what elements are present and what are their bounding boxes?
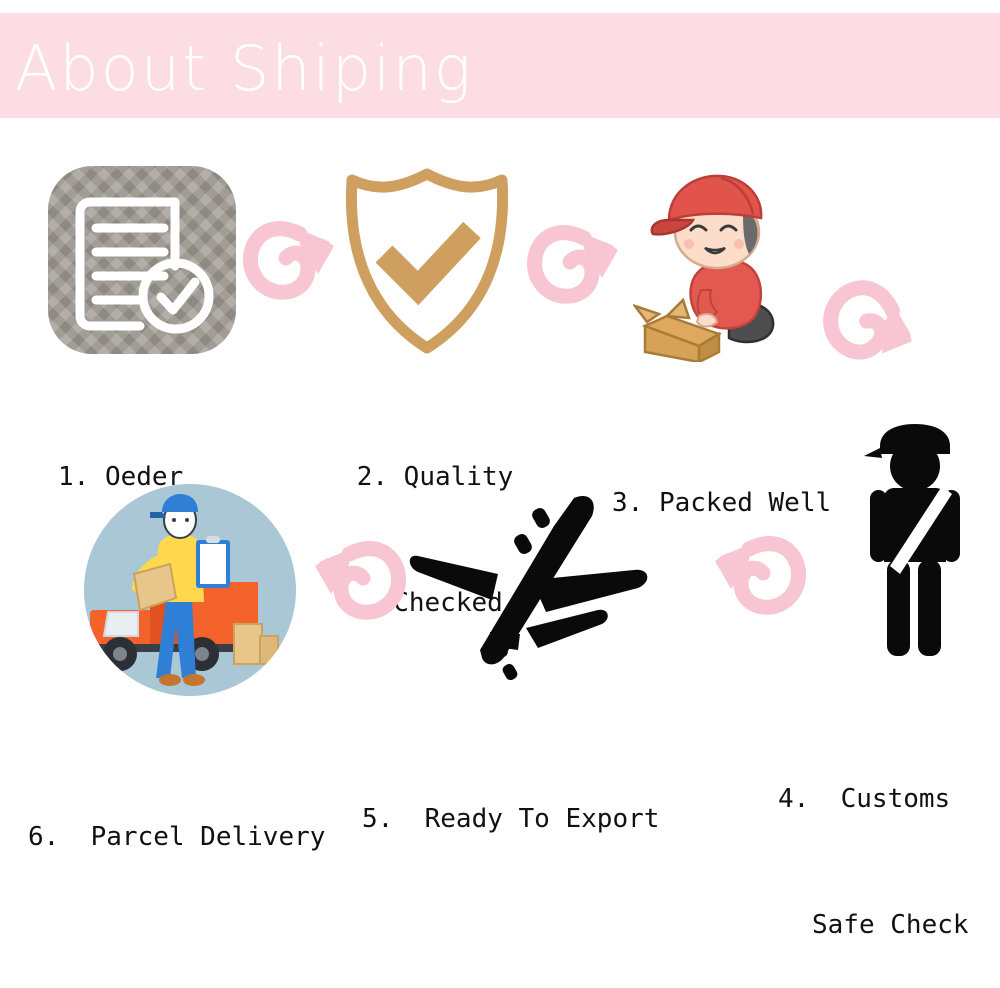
step-4-label: 4. Customs Safe Check [778,694,1000,988]
arrow-step4-to-step5 [703,527,811,627]
step-5-line1: 5. Ready To Export [362,798,692,840]
document-check-icon [48,166,236,354]
packing-boy-icon [633,166,808,362]
shield-check-icon [340,162,515,358]
step-4-line2: Safe Check [778,904,1000,946]
arrow-step2-to-step3 [522,216,630,316]
arrow-step5-to-step6 [303,532,411,632]
step-4-line1: 4. Customs [778,778,1000,820]
arrow-step3-to-step4 [796,255,943,400]
arrow-step1-to-step2 [238,212,346,312]
step-5-label: 5. Ready To Export [362,714,692,882]
customs-officer-icon [860,424,970,656]
step-6-line1: 6. Parcel Delivery [28,816,358,858]
step-6-label: 6. Parcel Delivery [28,732,358,900]
page-title: About Shiping [15,38,473,100]
delivery-truck-icon [84,484,296,696]
airplane-icon [402,482,668,680]
